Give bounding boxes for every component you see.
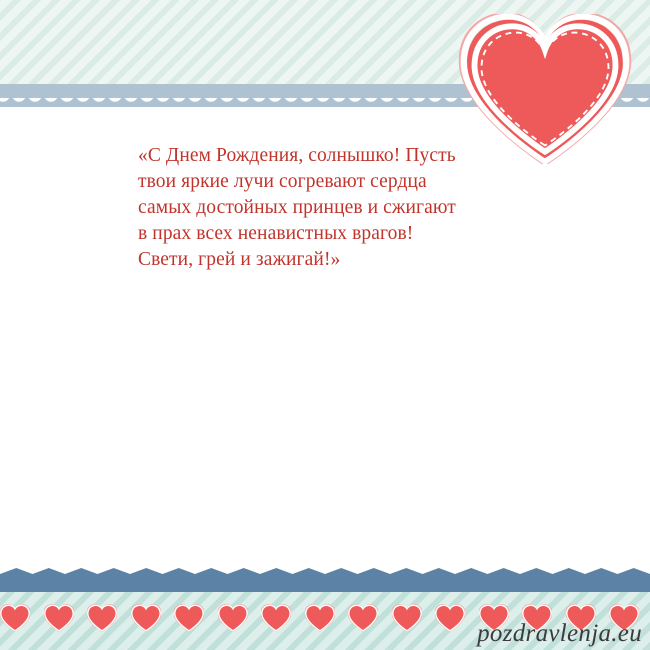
- mini-heart-icon: [44, 603, 74, 633]
- mini-heart-icon: [261, 603, 291, 633]
- mini-heart-icon: [435, 603, 465, 633]
- greeting-line-3: самых достойных принцев и сжигают: [138, 195, 538, 221]
- greeting-message: «С Днем Рождения, солнышко! Пусть твои я…: [138, 143, 538, 273]
- mini-heart-icon: [218, 603, 248, 633]
- greeting-line-5: Свети, грей и зажигай!»: [138, 247, 538, 273]
- greeting-line-4: в прах всех ненавистных врагов!: [138, 221, 538, 247]
- greeting-line-1: «С Днем Рождения, солнышко! Пусть: [138, 143, 538, 169]
- large-heart-icon: [458, 14, 632, 164]
- mini-heart-icon: [305, 603, 335, 633]
- mini-heart-icon: [392, 603, 422, 633]
- greeting-line-2: твои яркие лучи согревают сердца: [138, 169, 538, 195]
- mini-heart-icon: [87, 603, 117, 633]
- mini-heart-icon: [0, 603, 30, 633]
- mini-heart-icon: [131, 603, 161, 633]
- bottom-zigzag-band: [0, 568, 650, 592]
- watermark-text: pozdravlenja.eu: [477, 620, 642, 648]
- mini-heart-icon: [174, 603, 204, 633]
- greeting-card: «С Днем Рождения, солнышко! Пусть твои я…: [0, 0, 650, 650]
- mini-heart-icon: [348, 603, 378, 633]
